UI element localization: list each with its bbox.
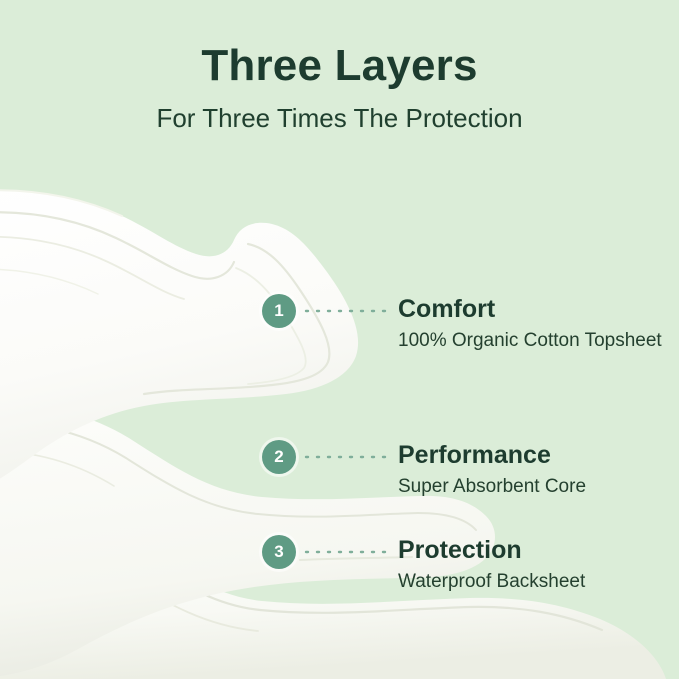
callout-comfort: 1 Comfort 100% Organic Cotton Topsheet: [262, 294, 662, 353]
callout-text-1: Comfort 100% Organic Cotton Topsheet: [398, 294, 662, 353]
callout-badge-3: 3: [262, 535, 296, 569]
callout-title-2: Performance: [398, 441, 586, 470]
callout-description-2: Super Absorbent Core: [398, 475, 586, 499]
callout-badge-1: 1: [262, 294, 296, 328]
dotted-leader-icon-2: [304, 440, 390, 474]
dotted-leader-icon-3: [304, 535, 390, 569]
callout-badge-2: 2: [262, 440, 296, 474]
callout-title-1: Comfort: [398, 295, 662, 324]
callout-text-3: Protection Waterproof Backsheet: [398, 535, 585, 594]
heading-block: Three Layers For Three Times The Protect…: [0, 42, 679, 132]
callout-title-3: Protection: [398, 536, 585, 565]
dotted-leader-icon-1: [304, 294, 390, 328]
page-title: Three Layers: [0, 42, 679, 90]
callout-description-1: 100% Organic Cotton Topsheet: [398, 329, 662, 353]
callout-protection: 3 Protection Waterproof Backsheet: [262, 535, 585, 594]
callout-text-2: Performance Super Absorbent Core: [398, 440, 586, 499]
callout-performance: 2 Performance Super Absorbent Core: [262, 440, 586, 499]
product-layers-infographic: Three Layers For Three Times The Protect…: [0, 0, 679, 679]
page-subtitle: For Three Times The Protection: [0, 104, 679, 133]
callout-description-3: Waterproof Backsheet: [398, 570, 585, 594]
